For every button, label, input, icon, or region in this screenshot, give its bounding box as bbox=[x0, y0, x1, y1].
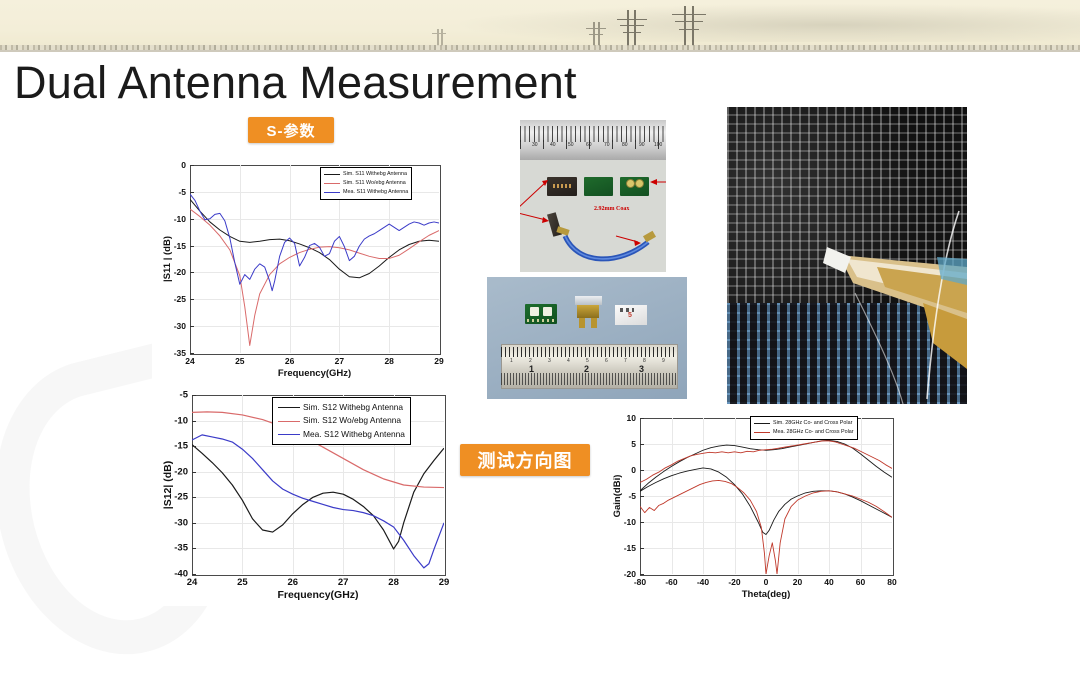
legend-item: Mea. S12 Withebg Antenna bbox=[278, 428, 405, 441]
y-tick-label: -35 bbox=[168, 543, 188, 554]
legend-label: Sim. S11 Wo/ebg Antenna bbox=[343, 179, 406, 188]
y-axis-label: |S11 | (dB) bbox=[162, 236, 173, 282]
y-tick-label: 5 bbox=[616, 439, 636, 449]
transmission-tower-icon bbox=[672, 6, 706, 46]
y-tick-mark bbox=[640, 548, 644, 549]
legend-label: Mea. S12 Withebg Antenna bbox=[303, 428, 405, 441]
legend-label: Mea. 28GHz Co- and Cross Polar bbox=[773, 428, 854, 437]
y-tick-mark bbox=[192, 421, 196, 422]
y-tick-label: -10 bbox=[616, 517, 636, 527]
x-tick-label: 27 bbox=[338, 577, 349, 588]
series-line-2 bbox=[192, 435, 444, 568]
y-tick-label: -25 bbox=[166, 294, 186, 304]
x-tick-label: 28 bbox=[388, 577, 399, 588]
y-tick-label: -30 bbox=[168, 517, 188, 528]
x-axis-label: Frequency(GHz) bbox=[277, 589, 358, 601]
x-tick-label: 24 bbox=[185, 356, 194, 366]
y-tick-mark bbox=[190, 272, 194, 273]
legend-item: Sim. S12 Wo/ebg Antenna bbox=[278, 414, 405, 427]
chart-legend: Sim. 28GHz Co- and Cross PolarMea. 28GHz… bbox=[750, 416, 858, 440]
legend-label: Sim. S11 Withebg Antenna bbox=[343, 170, 407, 179]
legend-swatch bbox=[278, 421, 300, 422]
antenna-boards-and-coax-photo: 3040 5060 7080 90100 Antennas Mini SMPCo… bbox=[520, 120, 666, 272]
y-tick-mark bbox=[640, 418, 644, 419]
series-line-0 bbox=[192, 445, 444, 549]
y-tick-mark bbox=[190, 246, 194, 247]
y-tick-label: -30 bbox=[166, 321, 186, 331]
x-tick-label: 25 bbox=[235, 356, 244, 366]
x-tick-label: 40 bbox=[824, 577, 833, 587]
smp-connector-part bbox=[575, 296, 602, 305]
y-tick-label: -5 bbox=[166, 187, 186, 197]
y-axis-label: Gain(dBi) bbox=[612, 475, 623, 518]
y-tick-label: -10 bbox=[166, 214, 186, 224]
y-tick-mark bbox=[190, 219, 194, 220]
legend-item: Mea. 28GHz Co- and Cross Polar bbox=[754, 428, 854, 437]
anechoic-chamber-photo bbox=[727, 107, 967, 404]
x-tick-label: 29 bbox=[439, 577, 450, 588]
y-tick-mark bbox=[192, 523, 196, 524]
y-tick-mark bbox=[640, 470, 644, 471]
transmission-tower-icon bbox=[617, 10, 647, 46]
y-tick-label: -10 bbox=[168, 415, 188, 426]
x-tick-label: 80 bbox=[887, 577, 896, 587]
transmission-tower-icon bbox=[432, 29, 446, 46]
y-tick-label: 0 bbox=[166, 160, 186, 170]
chart-legend: Sim. S11 Withebg AntennaSim. S11 Wo/ebg … bbox=[320, 167, 412, 200]
y-tick-mark bbox=[192, 472, 196, 473]
y-tick-label: -15 bbox=[168, 441, 188, 452]
y-tick-mark bbox=[192, 548, 196, 549]
legend-swatch bbox=[754, 432, 770, 433]
y-tick-mark bbox=[640, 496, 644, 497]
x-axis-label: Theta(deg) bbox=[742, 589, 791, 600]
chart-s12: 242526272829-5-10-15-20-25-30-35-40Frequ… bbox=[152, 385, 452, 606]
legend-swatch bbox=[324, 183, 340, 184]
x-tick-label: 60 bbox=[856, 577, 865, 587]
series-line-2 bbox=[190, 194, 439, 291]
y-tick-label: -40 bbox=[168, 569, 188, 580]
legend-label: Sim. 28GHz Co- and Cross Polar bbox=[773, 419, 852, 428]
y-tick-label: -20 bbox=[616, 569, 636, 579]
x-tick-label: 28 bbox=[384, 356, 393, 366]
y-tick-mark bbox=[190, 326, 194, 327]
chart-s11: 2425262728290-5-10-15-20-25-30-35Frequen… bbox=[152, 155, 447, 383]
legend-label: Mea. S11 Withebg Antenna bbox=[343, 188, 408, 197]
y-tick-label: -15 bbox=[616, 543, 636, 553]
y-tick-mark bbox=[192, 395, 196, 396]
legend-item: Mea. S11 Withebg Antenna bbox=[324, 188, 408, 197]
chart-radiation-pattern: -80-60-40-200204060801050-5-10-15-20Thet… bbox=[602, 408, 902, 604]
antenna-fixture bbox=[727, 107, 967, 404]
legend-swatch bbox=[754, 423, 770, 424]
y-tick-mark bbox=[190, 192, 194, 193]
y-tick-mark bbox=[640, 444, 644, 445]
y-tick-label: -5 bbox=[168, 390, 188, 401]
x-tick-label: 24 bbox=[187, 577, 198, 588]
legend-swatch bbox=[324, 174, 340, 175]
x-tick-label: 20 bbox=[793, 577, 802, 587]
page-title: Dual Antenna Measurement bbox=[14, 57, 577, 109]
x-tick-label: -40 bbox=[697, 577, 709, 587]
annotation-coax: 2.92mm Coax bbox=[594, 206, 629, 213]
components-with-ruler-photo: 5 12 34 56 78 9 12 3 bbox=[487, 277, 687, 399]
series-line-2 bbox=[640, 441, 892, 483]
x-tick-label: 27 bbox=[335, 356, 344, 366]
x-tick-label: 26 bbox=[285, 356, 294, 366]
y-tick-label: 0 bbox=[616, 465, 636, 475]
transmission-tower-icon bbox=[586, 22, 606, 46]
x-tick-label: -60 bbox=[665, 577, 677, 587]
legend-label: Sim. S12 Withebg Antenna bbox=[303, 401, 403, 414]
y-tick-mark bbox=[192, 446, 196, 447]
legend-item: Sim. S11 Withebg Antenna bbox=[324, 170, 408, 179]
legend-swatch bbox=[278, 407, 300, 408]
series-line-3 bbox=[640, 480, 892, 574]
x-tick-label: 26 bbox=[288, 577, 299, 588]
legend-item: Sim. S12 Withebg Antenna bbox=[278, 401, 405, 414]
banner-haze bbox=[460, 4, 1080, 42]
legend-swatch bbox=[324, 192, 340, 193]
banner-divider bbox=[0, 50, 1080, 52]
x-tick-label: -20 bbox=[728, 577, 740, 587]
legend-item: Sim. S11 Wo/ebg Antenna bbox=[324, 179, 408, 188]
x-tick-label: 25 bbox=[237, 577, 248, 588]
y-tick-mark bbox=[192, 497, 196, 498]
x-axis-label: Frequency(GHz) bbox=[278, 368, 351, 379]
series-line-0 bbox=[190, 199, 439, 277]
y-tick-label: -35 bbox=[166, 348, 186, 358]
y-tick-label: 10 bbox=[616, 413, 636, 423]
legend-item: Sim. 28GHz Co- and Cross Polar bbox=[754, 419, 854, 428]
y-tick-mark bbox=[192, 574, 196, 575]
y-tick-mark bbox=[190, 299, 194, 300]
x-tick-label: 29 bbox=[434, 356, 443, 366]
y-tick-mark bbox=[190, 353, 194, 354]
chart-legend: Sim. S12 Withebg AntennaSim. S12 Wo/ebg … bbox=[272, 397, 411, 445]
s-parameters-chip: S-参数 bbox=[248, 117, 334, 143]
y-tick-mark bbox=[640, 522, 644, 523]
y-tick-mark bbox=[190, 165, 194, 166]
x-tick-label: 0 bbox=[764, 577, 769, 587]
radiation-pattern-chip: 测试方向图 bbox=[460, 444, 590, 476]
legend-swatch bbox=[278, 434, 300, 435]
slide-top-banner bbox=[0, 0, 1080, 50]
y-tick-mark bbox=[640, 574, 644, 575]
series-line-1 bbox=[640, 468, 892, 535]
legend-label: Sim. S12 Wo/ebg Antenna bbox=[303, 414, 401, 427]
y-axis-label: |S12| (dB) bbox=[162, 460, 174, 508]
